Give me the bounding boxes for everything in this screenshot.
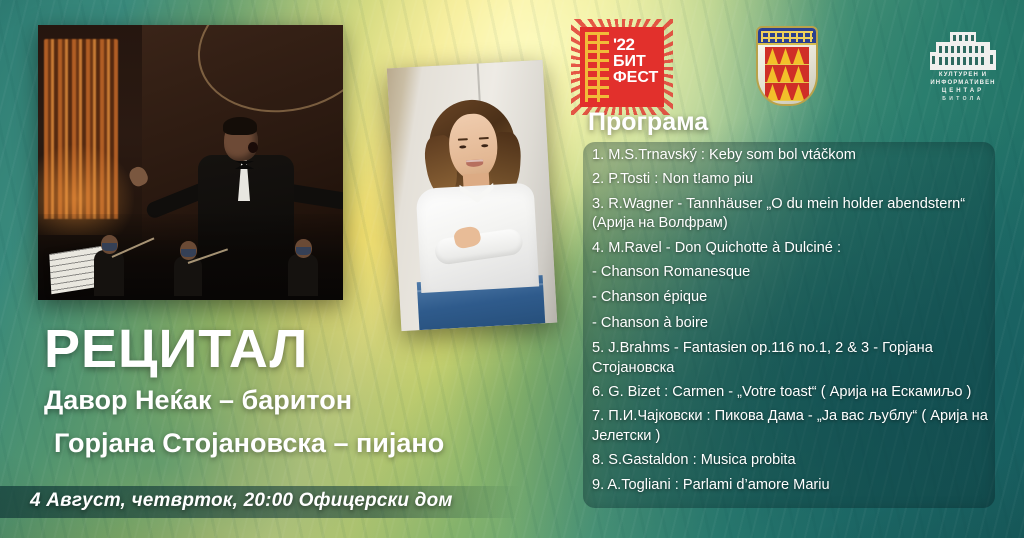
headline-block: РЕЦИТАЛ Давор Неќак – баритон Горјана Ст… — [44, 322, 514, 461]
musician — [94, 250, 124, 296]
program-heading: Програма — [588, 108, 708, 137]
program-item: 9. A.Togliani : Parlami d’amore Mariu — [592, 476, 992, 495]
bit-fest-year: '22 — [613, 36, 660, 54]
bit-fest-line1: БИТ — [613, 54, 660, 71]
shield-icon — [756, 26, 818, 106]
kic-line2: ИНФОРМАТИВЕН — [922, 80, 1004, 86]
photo-pianist — [387, 60, 557, 331]
program-item: 4. M.Ravel - Don Quichotte à Dulciné : — [592, 239, 992, 258]
program-item: 6. G. Bizet : Carmen - „Votre toast“ ( А… — [592, 383, 992, 402]
performer-pianist: Горјана Стојановска – пијано — [54, 426, 514, 462]
bit-fest-line2: ФЕСТ — [613, 70, 660, 87]
program-item: 2. P.Tosti : Non t!amo piu — [592, 170, 992, 189]
kic-line1: КУЛТУРЕН И — [922, 72, 1004, 78]
shield-chief — [758, 28, 816, 45]
shield-row — [765, 83, 809, 101]
program-item: - Chanson à boire — [592, 314, 992, 333]
building-icon — [930, 28, 996, 70]
kic-line3: ЦЕНТАР — [922, 88, 1004, 94]
program-item: 7. П.И.Чајковски : Пикова Дама - „Ја вас… — [592, 407, 992, 446]
concert-poster: РЕЦИТАЛ Давор Неќак – баритон Горјана Ст… — [0, 0, 1024, 538]
program-item: - Chanson épique — [592, 288, 992, 307]
program-item: 5. J.Brahms - Fantasien op.116 no.1, 2 &… — [592, 339, 992, 378]
kic-bitola-logo: КУЛТУРЕН И ИНФОРМАТИВЕН ЦЕНТАР БИТОЛА — [922, 28, 1004, 104]
musician-head — [101, 235, 118, 254]
meander-pattern-icon — [585, 32, 609, 102]
program-item: 3. R.Wagner - Tannhäuser „O du mein hold… — [592, 195, 992, 234]
event-datetime-venue: 4 Август, четврток, 20:00 Офицерски дом — [30, 490, 453, 512]
shield-row — [765, 65, 809, 83]
program-list: 1. M.S.Trnavský : Keby som bol vtáčkom2.… — [592, 146, 992, 500]
musician-head — [180, 241, 197, 260]
musician-head — [295, 239, 312, 258]
page-title: РЕЦИТАЛ — [44, 322, 514, 376]
musician — [288, 254, 318, 296]
coat-of-arms-bitola — [756, 26, 818, 106]
program-item: 1. M.S.Trnavský : Keby som bol vtáčkom — [592, 146, 992, 165]
program-item: 8. S.Gastaldon : Musica probita — [592, 451, 992, 470]
bit-fest-text: '22 БИТ ФЕСТ — [613, 36, 660, 87]
bit-fest-logo: '22 БИТ ФЕСТ — [580, 27, 664, 107]
singer-mouth — [248, 142, 258, 153]
kic-line4: БИТОЛА — [922, 96, 1004, 102]
performer-baritone: Давор Неќак – баритон — [44, 383, 514, 419]
greek-key-icon — [761, 31, 813, 42]
shield-field — [765, 47, 809, 95]
program-item: - Chanson Romanesque — [592, 263, 992, 282]
shield-row — [765, 47, 809, 65]
photo-baritone — [38, 25, 343, 300]
singer-hair — [223, 117, 257, 135]
